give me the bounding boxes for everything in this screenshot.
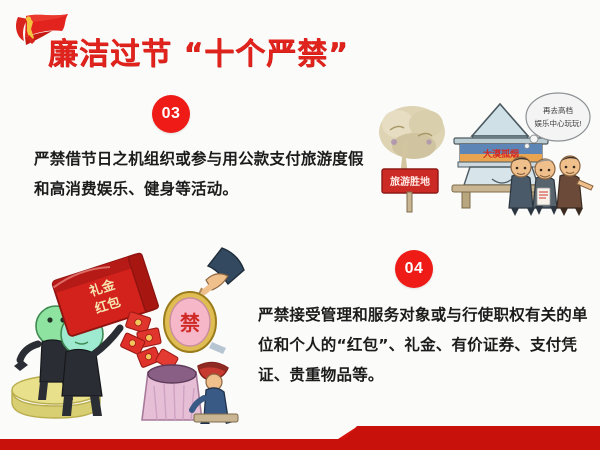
pavilion-banner-text: 大漠孤烟 <box>483 148 519 159</box>
tourism-sign-text: 旅游胜地 <box>390 175 430 188</box>
poster-canvas: 廉洁过节 “十个严禁” 03 严禁借节日之机组织或参与用公款支付旅游度假和高消费… <box>0 0 600 450</box>
poster-header: 廉洁过节 “十个严禁” <box>0 0 600 80</box>
item-number-badge-04: 04 <box>395 250 433 288</box>
medallion-text: 禁 <box>180 312 200 335</box>
red-envelope-illustration: 礼金 红包 <box>8 238 264 424</box>
hand-with-medallion: 禁 <box>164 248 244 354</box>
speech-bubble-line2: 娱乐中心玩玩! <box>534 118 581 128</box>
item-text-03: 严禁借节日之机组织或参与用公款支付旅游度假和高消费娱乐、健身等活动。 <box>34 144 364 204</box>
speech-bubble-line1: 再去高档 <box>543 105 573 115</box>
tourism-sign: 旅游胜地 <box>382 169 438 212</box>
footer-red-bar <box>0 439 600 450</box>
item-number-badge-03: 03 <box>152 95 190 133</box>
page-title: 廉洁过节 “十个严禁” <box>48 29 349 73</box>
item-text-04: 严禁接受管理和服务对象或与行使职权有关的单位和个人的“红包”、礼金、有价证券、支… <box>258 300 594 390</box>
speech-bubble: 再去高档 娱乐中心玩玩! <box>525 93 590 148</box>
tourism-illustration: 大漠孤烟 旅游胜地 再去高档 娱乐中心玩玩! <box>374 84 598 216</box>
people-group <box>509 156 593 216</box>
